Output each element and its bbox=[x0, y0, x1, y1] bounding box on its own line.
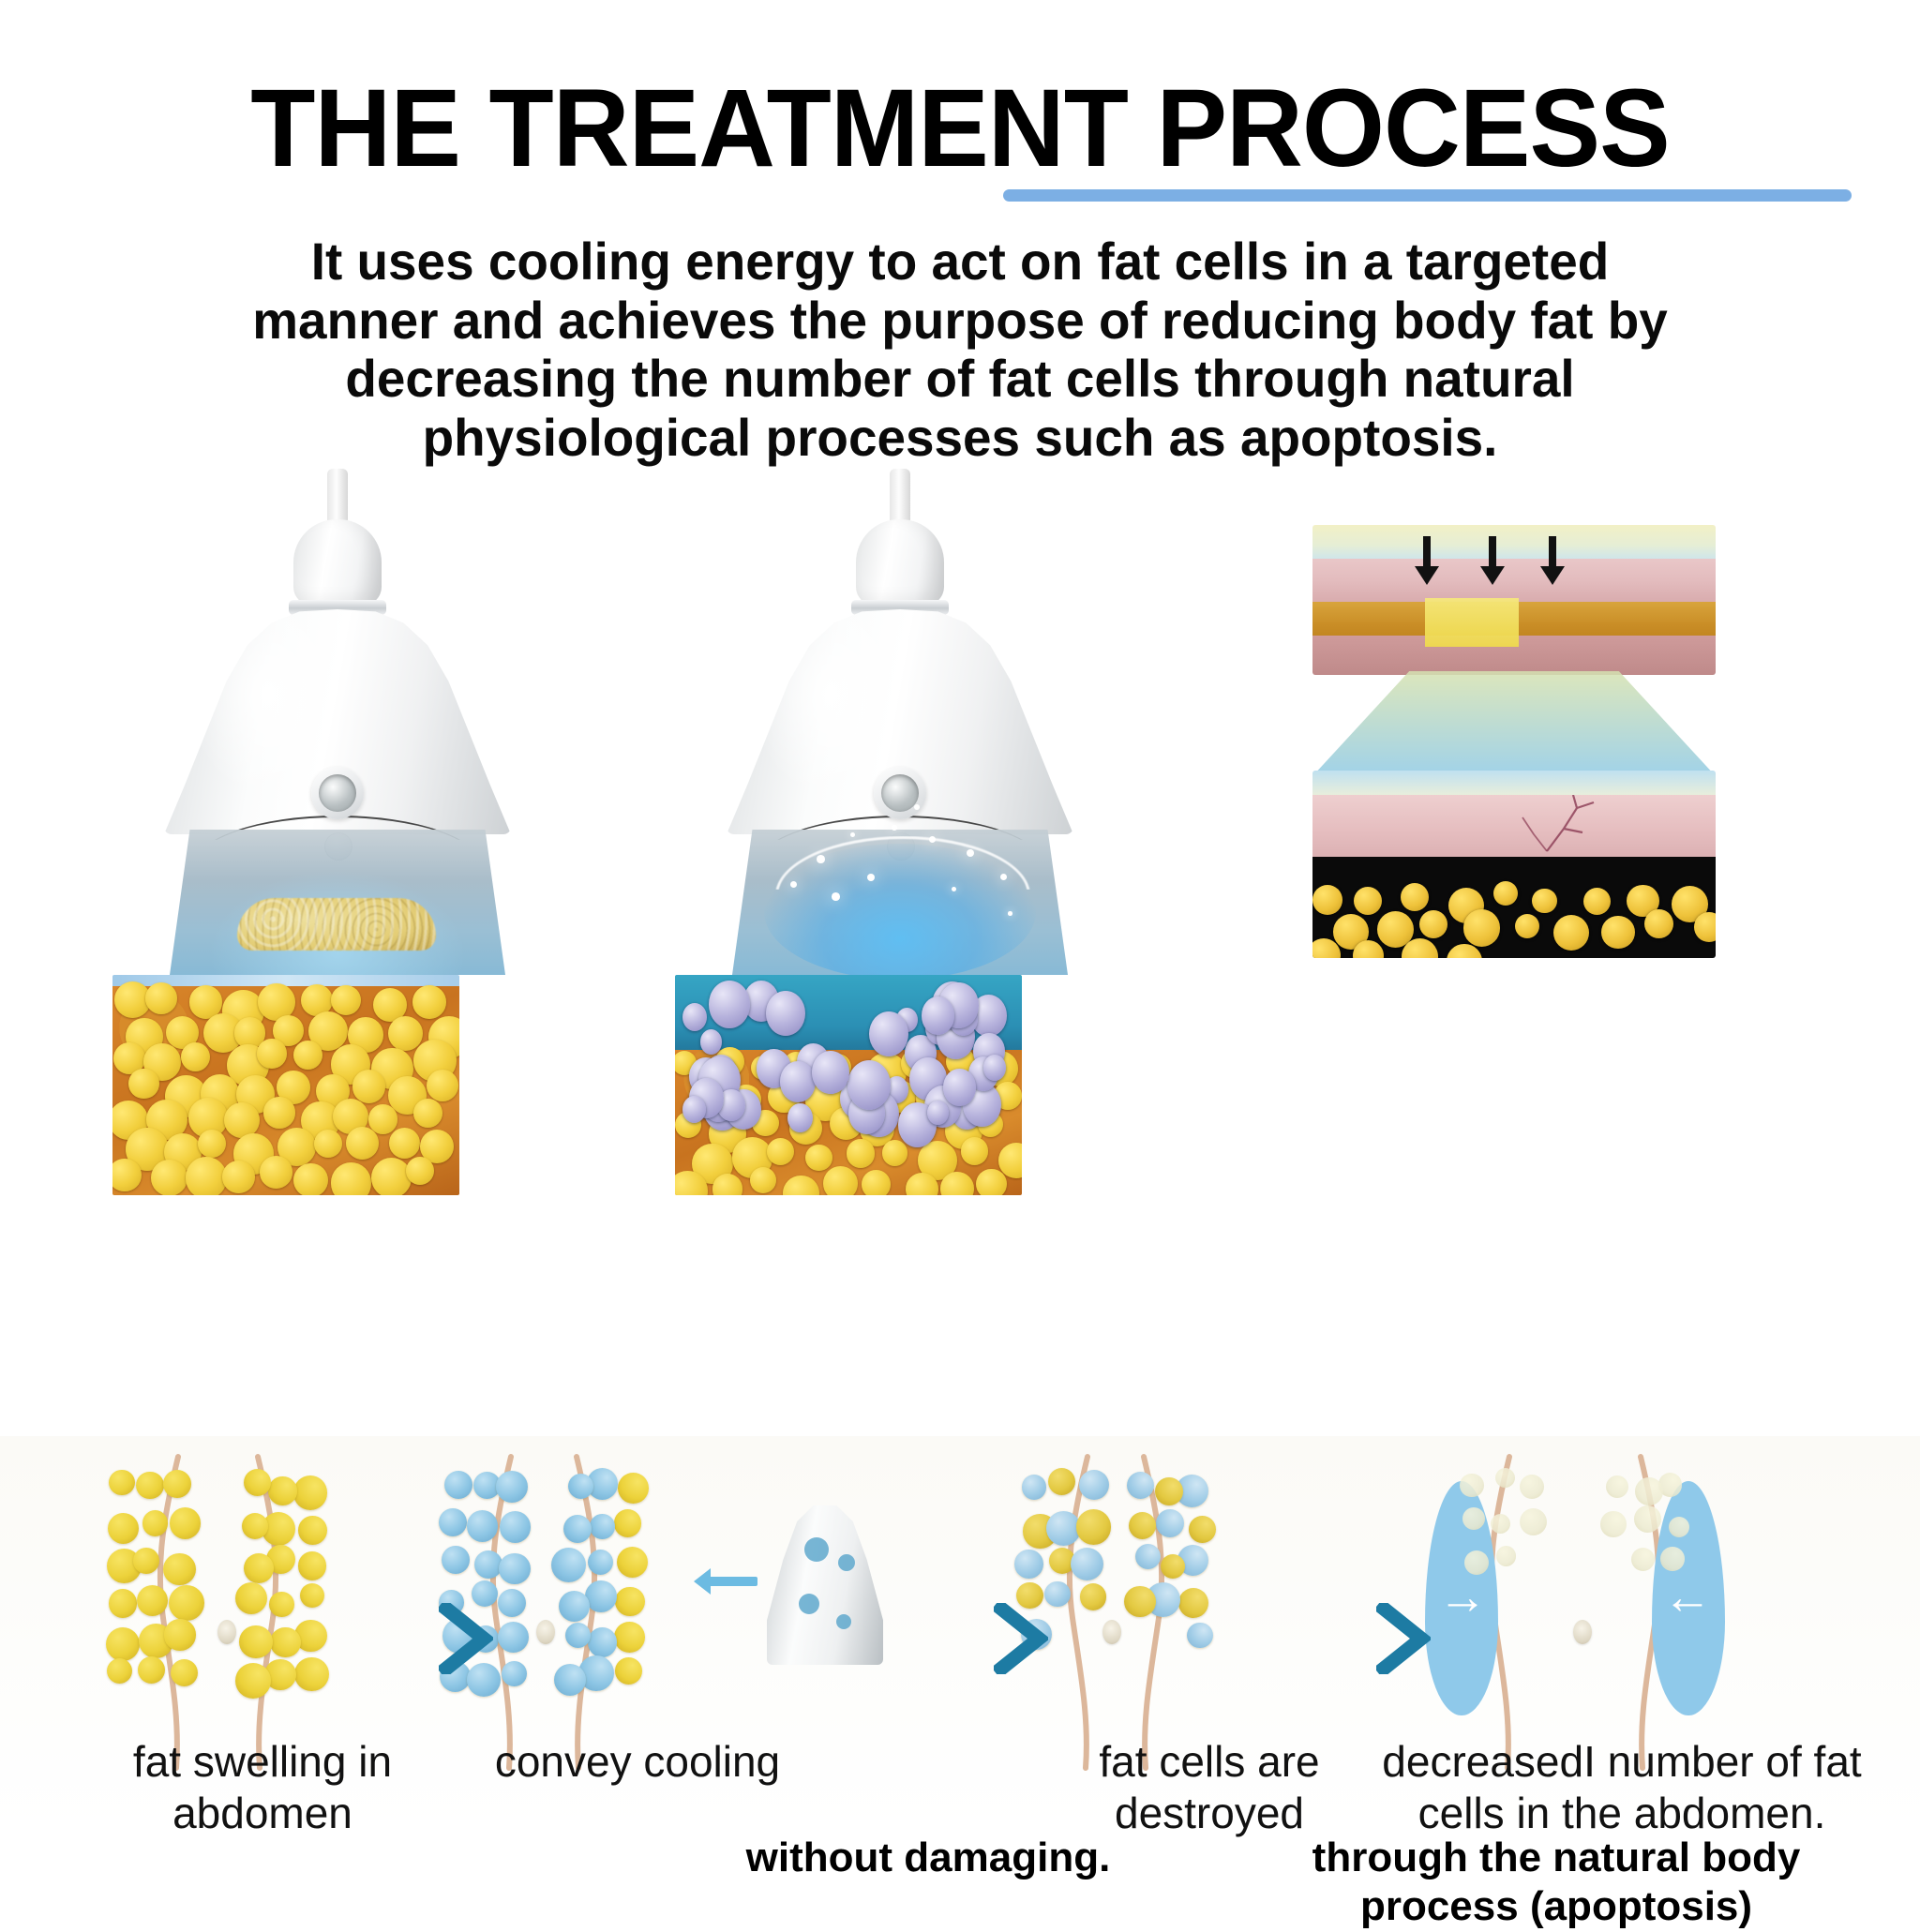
dermis-layer bbox=[1312, 559, 1716, 602]
fat-tissue-block-2 bbox=[675, 975, 1022, 1195]
crystallized-fat-cell bbox=[847, 1060, 891, 1110]
abdomen-fat-cell bbox=[300, 1583, 324, 1608]
fat-cell bbox=[331, 985, 361, 1015]
title-underline-rule bbox=[1003, 189, 1852, 202]
abdomen-fat-cell bbox=[169, 1585, 204, 1621]
abdomen-silhouette bbox=[548, 1453, 689, 1772]
sparkle-icon bbox=[832, 892, 840, 901]
abdomen-fat-cell bbox=[588, 1550, 613, 1575]
fat-cell bbox=[389, 1128, 420, 1159]
fat-cell bbox=[783, 1176, 818, 1195]
abdomen-fat-cell bbox=[163, 1470, 191, 1498]
chevron-separator-icon bbox=[1376, 1603, 1431, 1679]
abdomen-fat-cell bbox=[235, 1663, 271, 1699]
abdomen-fat-cell bbox=[444, 1471, 472, 1499]
abdomen-fat-cell bbox=[1460, 1474, 1483, 1497]
abdomen-fat-cell bbox=[171, 1659, 198, 1686]
abdomen-fat-cell bbox=[1079, 1470, 1109, 1500]
navel-icon bbox=[1573, 1620, 1592, 1644]
skin-cross-section-top bbox=[1312, 525, 1716, 675]
abdomen-fat-cell bbox=[1520, 1475, 1545, 1500]
fat-cell bbox=[750, 1167, 776, 1193]
fat-cell bbox=[413, 1099, 442, 1128]
fat-cell bbox=[427, 1070, 458, 1101]
navel-icon bbox=[217, 1620, 236, 1644]
abdomen-fat-cell bbox=[467, 1510, 498, 1541]
fat-cell-field bbox=[112, 986, 459, 1195]
cable-icon bbox=[327, 469, 348, 525]
abdomen-fat-cell bbox=[498, 1589, 526, 1617]
abdomen-fat-cell bbox=[1606, 1475, 1628, 1498]
fat-cell bbox=[222, 1161, 255, 1193]
sparkle-icon bbox=[952, 887, 956, 891]
fat-cell bbox=[145, 982, 177, 1014]
fat-cell bbox=[186, 1157, 228, 1195]
magnification-cone bbox=[1312, 671, 1716, 776]
abdomen-fat-cell bbox=[244, 1469, 271, 1496]
crystallized-fat-cell bbox=[700, 1029, 723, 1055]
abdomen-fat-cell bbox=[170, 1507, 201, 1538]
abdomen-fat-cell bbox=[565, 1623, 591, 1648]
bottom-caption-1: fat swelling in abdomen bbox=[56, 1736, 469, 1839]
abdomen-silhouette bbox=[1116, 1453, 1256, 1772]
abdomen-fat-cell bbox=[585, 1580, 617, 1612]
applicator-handpiece-2 bbox=[727, 506, 1073, 1031]
abdomen-fat-cell bbox=[474, 1550, 502, 1579]
abdomen-fat-cell bbox=[499, 1553, 531, 1585]
fat-cell bbox=[257, 1039, 287, 1069]
fat-cell bbox=[293, 1163, 328, 1195]
abdomen-fat-cell bbox=[1178, 1588, 1208, 1618]
crystallized-fat-cell bbox=[766, 991, 805, 1036]
abdomen-fat-cell bbox=[1660, 1547, 1685, 1571]
step-1-figure bbox=[112, 506, 562, 1031]
sparkle-icon bbox=[914, 804, 920, 810]
abdomen-fat-cell bbox=[1634, 1505, 1661, 1533]
fat-cell bbox=[260, 1156, 292, 1189]
abdomen-fat-cell bbox=[498, 1622, 529, 1653]
crystallized-fat-cell bbox=[682, 1003, 707, 1031]
navel-icon bbox=[1102, 1620, 1121, 1644]
abdomen-fat-cell bbox=[1080, 1583, 1107, 1610]
sparkle-icon bbox=[892, 825, 897, 831]
detail-top-band bbox=[1312, 771, 1716, 795]
abdomen-fat-cell bbox=[588, 1627, 617, 1656]
abdomen-fat-cell bbox=[439, 1508, 467, 1536]
abdomen-fat-cell bbox=[136, 1472, 164, 1500]
bottom-caption-4: decreasedI number of fat cells in the ab… bbox=[1378, 1736, 1866, 1839]
fat-cell bbox=[112, 1159, 142, 1191]
crystallized-fat-cell bbox=[682, 1096, 707, 1124]
abdomen-fat-cell bbox=[1635, 1477, 1663, 1505]
fat-cell bbox=[412, 985, 446, 1019]
abdomen-fat-cell bbox=[502, 1661, 527, 1686]
dial-icon bbox=[804, 1537, 829, 1562]
step-3-figure bbox=[1312, 506, 1781, 975]
abdomen-fat-cell bbox=[298, 1551, 327, 1580]
abdomen-fat-cell bbox=[559, 1591, 590, 1622]
cooling-inward-arrow-icon: → bbox=[1438, 1573, 1487, 1622]
sensor-lens-inner bbox=[319, 774, 356, 812]
abdomen-fat-cell bbox=[108, 1513, 139, 1544]
dial-icon bbox=[838, 1554, 855, 1571]
cooling-direction-arrow-icon bbox=[709, 1577, 757, 1586]
abdomen-fat-cell bbox=[1462, 1507, 1485, 1530]
abdomen-silhouette bbox=[66, 1453, 206, 1772]
handpiece-neck bbox=[293, 519, 382, 606]
abdomen-fat-cell bbox=[496, 1471, 528, 1503]
fat-cell bbox=[940, 1172, 974, 1195]
fat-cell bbox=[976, 1169, 1006, 1195]
abdomen-fat-cell bbox=[615, 1657, 642, 1685]
crystallized-fat-cell bbox=[787, 1103, 813, 1133]
abdomen-fat-cell bbox=[1071, 1548, 1103, 1580]
dial-icon bbox=[799, 1594, 819, 1614]
fat-tissue-block-1 bbox=[112, 975, 459, 1195]
sparkle-icon bbox=[867, 874, 875, 881]
abdomen-fat-cell bbox=[500, 1511, 532, 1543]
crystallized-fat-cell bbox=[780, 1061, 816, 1102]
abdomen-fat-cell bbox=[617, 1547, 648, 1578]
abdomen-fat-cell bbox=[554, 1664, 586, 1696]
fat-cell bbox=[263, 1097, 294, 1128]
fat-cell bbox=[198, 1130, 226, 1158]
crystallized-fat-cell bbox=[869, 1011, 908, 1056]
fat-cell bbox=[151, 1160, 187, 1195]
fat-cell bbox=[406, 1157, 434, 1185]
pressure-arrow-icon bbox=[1489, 536, 1496, 568]
chevron-separator-icon bbox=[439, 1603, 493, 1679]
crystallized-fat-cell bbox=[709, 981, 750, 1028]
abdomen-fat-cell bbox=[1631, 1548, 1655, 1571]
abdomen-fat-cell bbox=[442, 1546, 470, 1574]
fat-cell bbox=[314, 1130, 342, 1158]
abdomen-fat-cell bbox=[568, 1474, 593, 1499]
fat-cell bbox=[181, 1042, 210, 1071]
sparkle-icon bbox=[929, 836, 936, 843]
navel-icon bbox=[536, 1620, 555, 1644]
abdomen-fat-cell bbox=[163, 1553, 196, 1586]
dial-icon bbox=[836, 1614, 851, 1629]
fat-cell bbox=[331, 1162, 372, 1195]
crystallized-fat-cell bbox=[927, 1101, 949, 1125]
treated-fat-zone bbox=[1425, 598, 1519, 647]
abdomen-fat-cell bbox=[619, 1473, 650, 1504]
abdomen-fat-cell bbox=[1127, 1472, 1154, 1499]
cooling-inward-arrow-icon: → bbox=[1663, 1573, 1712, 1622]
applicator-handpiece-1 bbox=[164, 506, 511, 1031]
abdomen-fat-cell bbox=[109, 1470, 134, 1495]
crystallized-fat-cell bbox=[812, 1051, 849, 1094]
pressure-arrow-icon bbox=[1549, 536, 1556, 568]
abdomen-fat-cell bbox=[109, 1589, 137, 1617]
sparkle-icon bbox=[1008, 911, 1012, 916]
abdomen-fat-cell bbox=[239, 1625, 273, 1659]
steps-row: 1.The treatment head is attached 2. The … bbox=[0, 506, 1920, 1219]
abdomen-fat-cell bbox=[164, 1619, 195, 1650]
abdomen-fat-cell bbox=[1156, 1509, 1184, 1537]
abdomen-fat-cell bbox=[1189, 1516, 1216, 1543]
abdomen-fat-cell bbox=[1187, 1623, 1212, 1648]
abdomen-fat-cell bbox=[1135, 1544, 1161, 1569]
vessel-icon bbox=[1312, 795, 1716, 958]
bottom-caption-3: fat cells are destroyed bbox=[1031, 1736, 1387, 1839]
abdomen-fat-cell bbox=[1124, 1586, 1156, 1618]
abdomen-fat-cell bbox=[138, 1656, 165, 1684]
crystallized-fat-cell bbox=[983, 1055, 1006, 1081]
fat-cell bbox=[712, 1174, 743, 1195]
abdomen-fat-cell bbox=[614, 1509, 641, 1536]
fat-cell bbox=[823, 1166, 858, 1195]
sparkle-icon bbox=[790, 881, 797, 888]
abdomen-fat-cell bbox=[615, 1587, 644, 1616]
abdomen-fat-cell bbox=[293, 1475, 328, 1510]
fat-cell bbox=[128, 1069, 158, 1099]
mini-device-body bbox=[767, 1505, 883, 1665]
abdomen-fat-cell bbox=[590, 1514, 615, 1539]
skin-surface-layer bbox=[1312, 525, 1716, 559]
page-title: THE TREATMENT PROCESS bbox=[38, 0, 1882, 184]
header: THE TREATMENT PROCESS It uses cooling en… bbox=[0, 0, 1920, 184]
abdomen-fat-cell bbox=[269, 1592, 294, 1617]
abdomen-fat-cell bbox=[298, 1516, 327, 1545]
fat-cell bbox=[371, 1158, 412, 1195]
sparkle-icon bbox=[1000, 874, 1007, 880]
fat-cell bbox=[862, 1170, 891, 1195]
abdomen-fat-cell bbox=[1496, 1546, 1517, 1566]
abdomen-fat-cell bbox=[242, 1513, 268, 1539]
chevron-separator-icon bbox=[994, 1603, 1048, 1679]
abdomen-fat-cell bbox=[614, 1622, 645, 1653]
abdomen-fat-cell bbox=[1520, 1508, 1547, 1535]
abdomen-fat-cell bbox=[106, 1627, 140, 1661]
fat-cell bbox=[293, 1041, 323, 1071]
infographic-page: THE TREATMENT PROCESS It uses cooling en… bbox=[0, 0, 1920, 1920]
sparkle-icon bbox=[850, 832, 855, 837]
abdomen-fat-cell bbox=[137, 1585, 168, 1616]
fat-cell bbox=[352, 1070, 386, 1103]
abdomen-fat-cell bbox=[268, 1476, 296, 1505]
sparkle-group bbox=[727, 506, 1073, 994]
sparkle-icon bbox=[967, 849, 974, 857]
crystallized-fat-cells bbox=[675, 975, 1022, 1162]
abdomen-fat-cell bbox=[1600, 1511, 1626, 1536]
page-subtitle: It uses cooling energy to act on fat cel… bbox=[225, 232, 1695, 468]
fat-cell bbox=[346, 1127, 379, 1160]
crystallized-fat-cell bbox=[943, 1069, 975, 1106]
abdomen-fat-cell bbox=[142, 1510, 168, 1535]
suctioned-fat-mass bbox=[237, 898, 436, 951]
mini-applicator-device bbox=[750, 1496, 900, 1674]
abdomen-silhouette bbox=[230, 1453, 370, 1772]
abdomen-fat-cell bbox=[551, 1548, 586, 1582]
step-2-figure bbox=[675, 506, 1125, 1031]
pressure-arrow-icon bbox=[1423, 536, 1431, 568]
abdomen-fat-cell bbox=[1014, 1550, 1042, 1578]
bottom-caption-2: convey cooling bbox=[441, 1736, 834, 1788]
abdomen-fat-cell bbox=[294, 1657, 329, 1692]
abdomen-silhouette: → bbox=[1612, 1453, 1753, 1772]
abdomen-fat-cell bbox=[133, 1548, 159, 1574]
crystallized-fat-cell bbox=[922, 996, 954, 1034]
abdomen-fat-cell bbox=[270, 1627, 300, 1657]
sparkle-icon bbox=[817, 855, 825, 863]
skin-cross-section-detail bbox=[1312, 771, 1716, 958]
